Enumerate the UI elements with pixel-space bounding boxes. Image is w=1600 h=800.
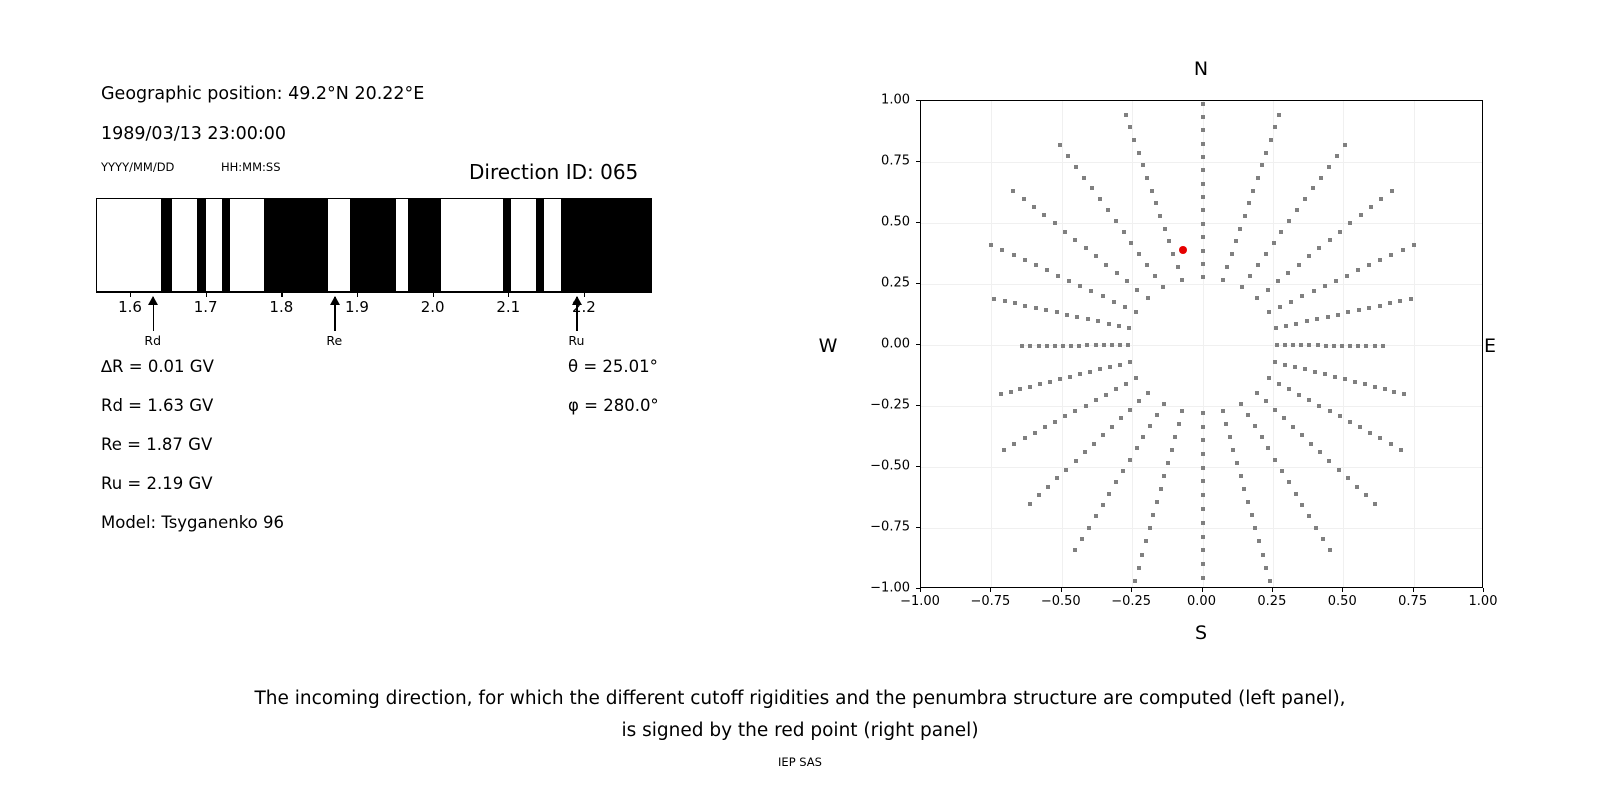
direction-grid-point <box>1053 344 1057 348</box>
direction-grid-point <box>1101 433 1105 437</box>
direction-grid-point <box>1383 387 1387 391</box>
direction-grid-point <box>1300 503 1304 507</box>
direction-grid-point <box>1023 436 1027 440</box>
direction-grid-point <box>1338 414 1342 418</box>
direction-grid-point <box>1264 151 1268 155</box>
direction-grid-point <box>1324 344 1328 348</box>
direction-grid-point <box>1358 425 1362 429</box>
x-axis-tick-label: −0.50 <box>1041 594 1081 609</box>
direction-grid-point <box>1333 375 1337 379</box>
direction-grid-point <box>1074 165 1078 169</box>
direction-grid-point <box>1088 370 1092 374</box>
direction-grid-point <box>1055 310 1059 314</box>
gridline-vertical <box>1203 101 1204 587</box>
direction-grid-point <box>1261 553 1265 557</box>
direction-grid-point <box>1201 438 1205 442</box>
direction-grid-point <box>1355 485 1359 489</box>
direction-grid-point <box>1373 502 1377 506</box>
gridline-horizontal <box>921 162 1482 163</box>
direction-grid-point <box>1228 435 1232 439</box>
y-axis-tick <box>916 100 920 101</box>
direction-grid-point <box>1094 343 1098 347</box>
y-axis-tick <box>916 405 920 406</box>
direction-grid-point <box>1044 308 1048 312</box>
y-axis-tick-label: −0.50 <box>870 459 910 474</box>
direction-grid-point <box>1273 125 1277 129</box>
direction-grid-point <box>1064 468 1068 472</box>
direction-grid-point <box>1045 268 1049 272</box>
direction-grid-point <box>1104 263 1108 267</box>
direction-grid-point <box>1023 258 1027 262</box>
direction-grid-point <box>1348 344 1352 348</box>
direction-grid-point <box>1303 197 1307 201</box>
x-axis-tick-label: 0.75 <box>1398 594 1427 609</box>
direction-grid-point <box>1346 310 1350 314</box>
direction-grid-point <box>1283 343 1287 347</box>
direction-grid-point <box>1094 398 1098 402</box>
direction-grid-point <box>1128 125 1132 129</box>
direction-grid-point <box>1345 274 1349 278</box>
direction-grid-point <box>1253 424 1257 428</box>
direction-grid-point <box>1201 115 1205 119</box>
y-axis-tick <box>916 222 920 223</box>
direction-grid-point <box>1299 343 1303 347</box>
direction-grid-point <box>1128 408 1132 412</box>
direction-grid-point <box>1028 344 1032 348</box>
direction-grid-point <box>1378 304 1382 308</box>
direction-grid-point <box>1307 398 1311 402</box>
gridline-horizontal <box>921 406 1482 407</box>
direction-grid-point <box>1273 360 1277 364</box>
direction-grid-point <box>1161 285 1165 289</box>
direction-grid-point <box>1126 343 1130 347</box>
gridline-horizontal <box>921 345 1482 346</box>
direction-grid-point <box>1348 420 1352 424</box>
direction-grid-point <box>1201 466 1205 470</box>
direction-grid-point <box>1224 422 1228 426</box>
compass-north-label: N <box>1194 58 1208 80</box>
gridline-horizontal <box>921 528 1482 529</box>
direction-grid-point <box>1230 252 1234 256</box>
sky-map-panel: −1.00−0.75−0.50−0.250.000.250.500.751.00… <box>0 0 1600 660</box>
direction-grid-point <box>1102 343 1106 347</box>
direction-grid-point <box>1020 344 1024 348</box>
direction-grid-point <box>1201 275 1205 279</box>
direction-grid-point <box>1092 442 1096 446</box>
direction-grid-point <box>1201 479 1205 483</box>
gridline-vertical <box>1132 101 1133 587</box>
direction-grid-point <box>1318 450 1322 454</box>
direction-grid-point <box>1368 431 1372 435</box>
direction-grid-point <box>1314 526 1318 530</box>
x-axis-tick-label: 1.00 <box>1469 594 1498 609</box>
direction-grid-point <box>1273 408 1277 412</box>
direction-grid-point <box>1336 313 1340 317</box>
direction-grid-point <box>1242 487 1246 491</box>
direction-grid-point <box>1063 230 1067 234</box>
direction-grid-point <box>1083 450 1087 454</box>
direction-grid-point <box>1151 513 1155 517</box>
direction-grid-point <box>1127 326 1131 330</box>
direction-grid-point <box>1303 367 1307 371</box>
direction-grid-point <box>1084 246 1088 250</box>
direction-grid-point <box>1268 579 1272 583</box>
direction-grid-point <box>1167 239 1171 243</box>
x-axis-tick <box>990 588 991 592</box>
direction-grid-point <box>1388 301 1392 305</box>
direction-grid-point <box>1090 186 1094 190</box>
y-axis-tick-label: 0.50 <box>881 215 910 230</box>
direction-grid-point <box>999 392 1003 396</box>
direction-grid-point <box>1239 474 1243 478</box>
direction-grid-point <box>1367 306 1371 310</box>
direction-grid-point <box>1148 424 1152 428</box>
direction-grid-point <box>1110 343 1114 347</box>
direction-grid-point <box>1373 385 1377 389</box>
gridline-vertical <box>991 101 992 587</box>
direction-grid-point <box>1003 299 1007 303</box>
direction-grid-point <box>1353 380 1357 384</box>
caption-line-1: The incoming direction, for which the di… <box>0 683 1600 715</box>
direction-grid-point <box>1056 274 1060 278</box>
direction-grid-point <box>1323 372 1327 376</box>
direction-grid-point <box>1133 579 1137 583</box>
direction-grid-point <box>1402 392 1406 396</box>
direction-grid-point <box>1240 285 1244 289</box>
direction-grid-point <box>1335 154 1339 158</box>
direction-grid-point <box>1295 208 1299 212</box>
direction-grid-point <box>1346 476 1350 480</box>
direction-grid-point <box>1201 235 1205 239</box>
direction-grid-point <box>1104 393 1108 397</box>
direction-grid-point <box>1312 289 1316 293</box>
direction-grid-point <box>1201 208 1205 212</box>
direction-grid-point <box>1289 300 1293 304</box>
x-axis-tick <box>1483 588 1484 592</box>
direction-grid-point <box>1293 365 1297 369</box>
direction-grid-point <box>1055 476 1059 480</box>
x-axis-tick-label: 0.50 <box>1328 594 1357 609</box>
y-axis-tick-label: 0.00 <box>881 337 910 352</box>
direction-grid-point <box>1221 409 1225 413</box>
direction-grid-point <box>1163 227 1167 231</box>
direction-grid-point <box>1328 409 1332 413</box>
direction-grid-point <box>1042 213 1046 217</box>
direction-grid-point <box>1144 539 1148 543</box>
direction-grid-point <box>1141 435 1145 439</box>
y-axis-tick <box>916 527 920 528</box>
direction-grid-point <box>1378 258 1382 262</box>
direction-grid-point <box>1280 469 1284 473</box>
direction-grid-point <box>1107 492 1111 496</box>
direction-grid-point <box>1279 230 1283 234</box>
direction-grid-point <box>1367 263 1371 267</box>
direction-grid-point <box>1129 241 1133 245</box>
direction-grid-point <box>1239 402 1243 406</box>
direction-grid-point <box>1028 385 1032 389</box>
sky-map-axes <box>920 100 1483 588</box>
direction-grid-point <box>1012 442 1016 446</box>
direction-grid-point <box>1058 377 1062 381</box>
direction-grid-point <box>1381 344 1385 348</box>
x-axis-tick <box>1202 588 1203 592</box>
direction-grid-point <box>1319 176 1323 180</box>
x-axis-tick <box>1272 588 1273 592</box>
direction-grid-point <box>1201 168 1205 172</box>
direction-grid-point <box>1287 480 1291 484</box>
direction-grid-point <box>1257 539 1261 543</box>
direction-grid-point <box>1155 413 1159 417</box>
direction-grid-point <box>1313 370 1317 374</box>
direction-grid-point <box>1255 296 1259 300</box>
direction-grid-point <box>1032 205 1036 209</box>
direction-grid-point <box>1132 138 1136 142</box>
direction-grid-point <box>1018 387 1022 391</box>
direction-grid-point <box>1348 221 1352 225</box>
direction-grid-point <box>1201 142 1205 146</box>
direction-grid-point <box>1260 435 1264 439</box>
direction-grid-point <box>1287 387 1291 391</box>
direction-grid-point <box>1277 382 1281 386</box>
direction-grid-point <box>1118 363 1122 367</box>
direction-grid-point <box>1307 254 1311 258</box>
direction-grid-point <box>1201 222 1205 226</box>
direction-grid-point <box>1098 197 1102 201</box>
direction-grid-point <box>1255 391 1259 395</box>
direction-grid-point <box>1201 576 1205 580</box>
direction-grid-point <box>1033 431 1037 435</box>
caption-line-2: is signed by the red point (right panel) <box>0 715 1600 747</box>
direction-grid-point <box>1075 315 1079 319</box>
direction-grid-point <box>1246 500 1250 504</box>
direction-grid-point <box>1034 306 1038 310</box>
direction-grid-point <box>1201 452 1205 456</box>
direction-grid-point <box>1256 176 1260 180</box>
direction-grid-point <box>1390 189 1394 193</box>
x-axis-tick <box>1061 588 1062 592</box>
direction-grid-point <box>1379 197 1383 201</box>
direction-grid-point <box>1235 461 1239 465</box>
gridline-horizontal <box>921 284 1482 285</box>
direction-grid-point <box>1201 262 1205 266</box>
direction-grid-point <box>1297 263 1301 267</box>
direction-grid-point <box>1201 507 1205 511</box>
direction-grid-point <box>1201 521 1205 525</box>
direction-grid-point <box>1282 416 1286 420</box>
direction-grid-point <box>1137 252 1141 256</box>
direction-grid-point <box>1124 382 1128 386</box>
y-axis-tick-label: 1.00 <box>881 93 910 108</box>
direction-grid-point <box>1275 343 1279 347</box>
direction-grid-point <box>1002 448 1006 452</box>
direction-grid-point <box>1300 294 1304 298</box>
direction-grid-point <box>1066 154 1070 158</box>
direction-grid-point <box>1272 241 1276 245</box>
direction-grid-point <box>1009 390 1013 394</box>
direction-grid-point <box>1256 263 1260 267</box>
direction-grid-point <box>1114 219 1118 223</box>
direction-grid-point <box>1273 458 1277 462</box>
direction-grid-point <box>1153 274 1157 278</box>
direction-grid-point <box>1284 324 1288 328</box>
y-axis-tick <box>916 466 920 467</box>
direction-grid-point <box>1201 182 1205 186</box>
direction-grid-point <box>1162 474 1166 478</box>
direction-grid-point <box>1225 265 1229 269</box>
x-axis-tick-label: −0.75 <box>970 594 1010 609</box>
direction-grid-point <box>1122 230 1126 234</box>
direction-grid-point <box>1053 420 1057 424</box>
direction-grid-point <box>1278 305 1282 309</box>
direction-grid-point <box>1086 317 1090 321</box>
direction-grid-point <box>1123 305 1127 309</box>
direction-grid-point <box>1201 128 1205 132</box>
direction-grid-point <box>1176 265 1180 269</box>
direction-grid-point <box>1266 288 1270 292</box>
direction-grid-point <box>1069 344 1073 348</box>
footer-credit: IEP SAS <box>0 755 1600 769</box>
direction-grid-point <box>1305 319 1309 323</box>
direction-grid-point <box>1162 402 1166 406</box>
direction-grid-point <box>1315 317 1319 321</box>
x-axis-tick-label: 0.25 <box>1257 594 1286 609</box>
direction-grid-point <box>1221 278 1225 282</box>
direction-grid-point <box>1073 409 1077 413</box>
direction-grid-point <box>1260 163 1264 167</box>
direction-grid-point <box>1201 249 1205 253</box>
direction-grid-point <box>1337 468 1341 472</box>
direction-grid-point <box>1238 227 1242 231</box>
direction-grid-point <box>1011 189 1015 193</box>
direction-grid-point <box>1401 248 1405 252</box>
direction-grid-point <box>1158 214 1162 218</box>
direction-grid-point <box>1286 271 1290 275</box>
direction-grid-point <box>1173 435 1177 439</box>
direction-grid-point <box>1287 219 1291 223</box>
direction-grid-point <box>1110 425 1114 429</box>
compass-east-label: E <box>1484 335 1496 357</box>
direction-grid-point <box>1000 248 1004 252</box>
direction-grid-point <box>1046 485 1050 489</box>
y-axis-tick <box>916 161 920 162</box>
direction-grid-point <box>1328 238 1332 242</box>
gridline-vertical <box>1273 101 1274 587</box>
direction-grid-point <box>1317 246 1321 250</box>
direction-grid-point <box>1022 197 1026 201</box>
direction-grid-point <box>1145 176 1149 180</box>
direction-grid-point <box>1146 391 1150 395</box>
direction-grid-point <box>1356 268 1360 272</box>
direction-grid-point <box>1326 315 1330 319</box>
x-axis-tick-label: 0.00 <box>1187 594 1216 609</box>
direction-grid-point <box>1294 322 1298 326</box>
direction-grid-point <box>1373 344 1377 348</box>
direction-grid-point <box>1389 442 1393 446</box>
direction-grid-point <box>1150 189 1154 193</box>
direction-grid-point <box>1363 382 1367 386</box>
direction-grid-point <box>1101 294 1105 298</box>
direction-grid-point <box>1398 299 1402 303</box>
direction-grid-point <box>1307 343 1311 347</box>
direction-grid-point <box>1048 380 1052 384</box>
direction-grid-point <box>1155 500 1159 504</box>
direction-grid-point <box>1094 254 1098 258</box>
direction-grid-point <box>1128 360 1132 364</box>
direction-grid-point <box>1201 155 1205 159</box>
direction-grid-point <box>1409 297 1413 301</box>
direction-grid-point <box>1266 446 1270 450</box>
direction-grid-point <box>1364 344 1368 348</box>
direction-grid-point <box>1166 461 1170 465</box>
direction-grid-point <box>1096 319 1100 323</box>
direction-grid-point <box>1094 514 1098 518</box>
direction-grid-point <box>1114 480 1118 484</box>
x-axis-tick <box>1342 588 1343 592</box>
direction-grid-point <box>1338 230 1342 234</box>
direction-grid-point <box>1340 344 1344 348</box>
compass-south-label: S <box>1195 622 1207 644</box>
direction-grid-point <box>1053 221 1057 225</box>
direction-grid-point <box>1177 422 1181 426</box>
y-axis-tick-label: 0.75 <box>881 154 910 169</box>
direction-grid-point <box>1201 535 1205 539</box>
direction-grid-point <box>1267 310 1271 314</box>
direction-grid-point <box>1201 411 1205 415</box>
direction-grid-point <box>1294 492 1298 496</box>
direction-grid-point <box>1013 301 1017 305</box>
direction-grid-point <box>1251 189 1255 193</box>
direction-grid-point <box>1332 344 1336 348</box>
direction-grid-point <box>1170 448 1174 452</box>
direction-grid-point <box>1267 376 1271 380</box>
direction-grid-point <box>1201 562 1205 566</box>
direction-grid-point <box>1334 279 1338 283</box>
direction-grid-point <box>1343 143 1347 147</box>
direction-grid-point <box>1323 284 1327 288</box>
direction-grid-point <box>1134 376 1138 380</box>
direction-grid-point <box>1089 289 1093 293</box>
direction-grid-point <box>1080 537 1084 541</box>
direction-grid-point <box>1246 413 1250 417</box>
direction-grid-point <box>1343 377 1347 381</box>
direction-grid-point <box>1378 436 1382 440</box>
direction-grid-point <box>1201 195 1205 199</box>
direction-grid-point <box>1180 409 1184 413</box>
direction-grid-point <box>1023 304 1027 308</box>
direction-grid-point <box>1073 238 1077 242</box>
direction-grid-point <box>1264 566 1268 570</box>
y-axis-tick <box>916 588 920 589</box>
direction-grid-point <box>1128 458 1132 462</box>
direction-grid-point <box>1269 138 1273 142</box>
direction-grid-point <box>1037 344 1041 348</box>
direction-grid-point <box>1154 201 1158 205</box>
direction-grid-point <box>1108 365 1112 369</box>
direction-grid-point <box>1112 300 1116 304</box>
direction-grid-point <box>1291 343 1295 347</box>
direction-grid-point <box>1317 404 1321 408</box>
direction-grid-point <box>1101 503 1105 507</box>
direction-grid-point <box>1084 404 1088 408</box>
direction-grid-point <box>1063 414 1067 418</box>
direction-grid-point <box>1392 390 1396 394</box>
direction-grid-point <box>1078 284 1082 288</box>
direction-grid-point <box>1067 279 1071 283</box>
y-axis-tick <box>916 344 920 345</box>
direction-grid-point <box>1369 205 1373 209</box>
direction-grid-point <box>1137 399 1141 403</box>
direction-grid-point <box>1359 213 1363 217</box>
